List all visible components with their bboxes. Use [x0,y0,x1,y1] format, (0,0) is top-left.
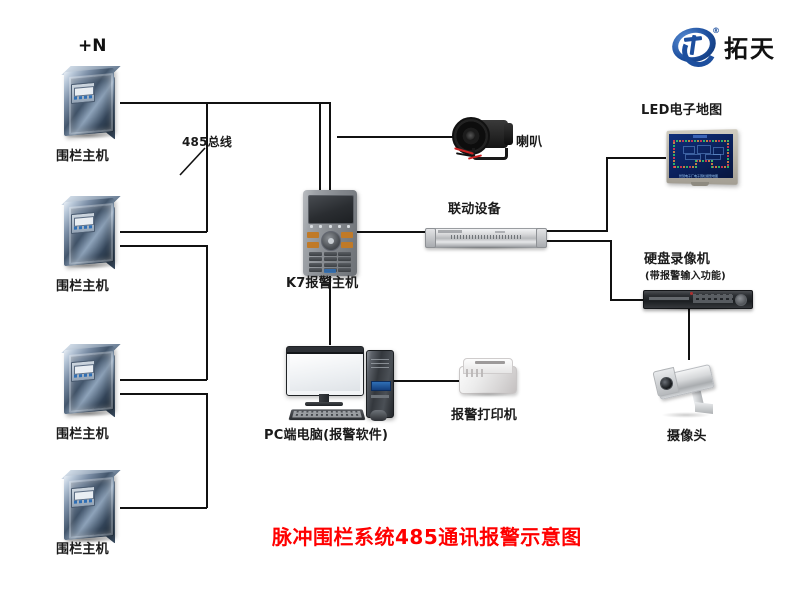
pc-label: PC端电脑(报警软件) [264,424,388,443]
tuotian-circular-logo-icon: ® [672,28,718,64]
dvr-icon[interactable] [643,288,751,310]
diagram-title: 脉冲围栏系统485通讯报警示意图 [272,521,582,550]
linkage-device-label: 联动设备 [448,198,501,217]
led-map-screen-caption: 智慧电子厂电子围栏报警地图 [679,174,718,178]
diagram-canvas: ® 拓天 +N 485总线 围栏主机 围栏主机 围栏主机 围栏主机 [0,0,800,600]
fence-host-icon[interactable] [58,344,120,418]
k7-alarm-host-icon[interactable] [303,190,357,276]
fence-host-icon[interactable] [58,196,120,270]
k7-alarm-host-label: K7报警主机 [286,272,358,291]
alarm-printer-icon[interactable] [459,356,519,398]
camera-label: 摄像头 [667,425,707,444]
bus-label: 485总线 [182,133,232,150]
fence-host-icon[interactable] [58,66,120,140]
cctv-camera-icon[interactable] [655,362,727,424]
fence-host-label-3: 围栏主机 [56,423,109,442]
led-map-label: LED电子地图 [641,99,722,118]
printer-label: 报警打印机 [451,404,517,423]
led-map-icon[interactable]: 智慧电子厂电子围栏报警地图 [665,130,737,184]
brand-name: 拓天 [724,29,776,64]
registered-mark: ® [712,26,720,35]
dvr-sublabel: (带报警输入功能) [645,267,726,282]
plus-n-label: +N [78,36,106,56]
horn-speaker-icon[interactable] [452,115,524,163]
fence-host-label-1: 围栏主机 [56,145,109,164]
brand-logo: ® 拓天 [672,28,776,64]
fence-host-icon[interactable] [58,470,120,544]
rack-linkage-device-icon[interactable] [425,224,545,250]
dvr-label: 硬盘录像机 [644,248,710,267]
fence-host-label-2: 围栏主机 [56,275,109,294]
fence-host-label-4: 围栏主机 [56,538,109,557]
speaker-label: 喇叭 [516,131,542,150]
desktop-pc-icon[interactable] [286,340,404,426]
